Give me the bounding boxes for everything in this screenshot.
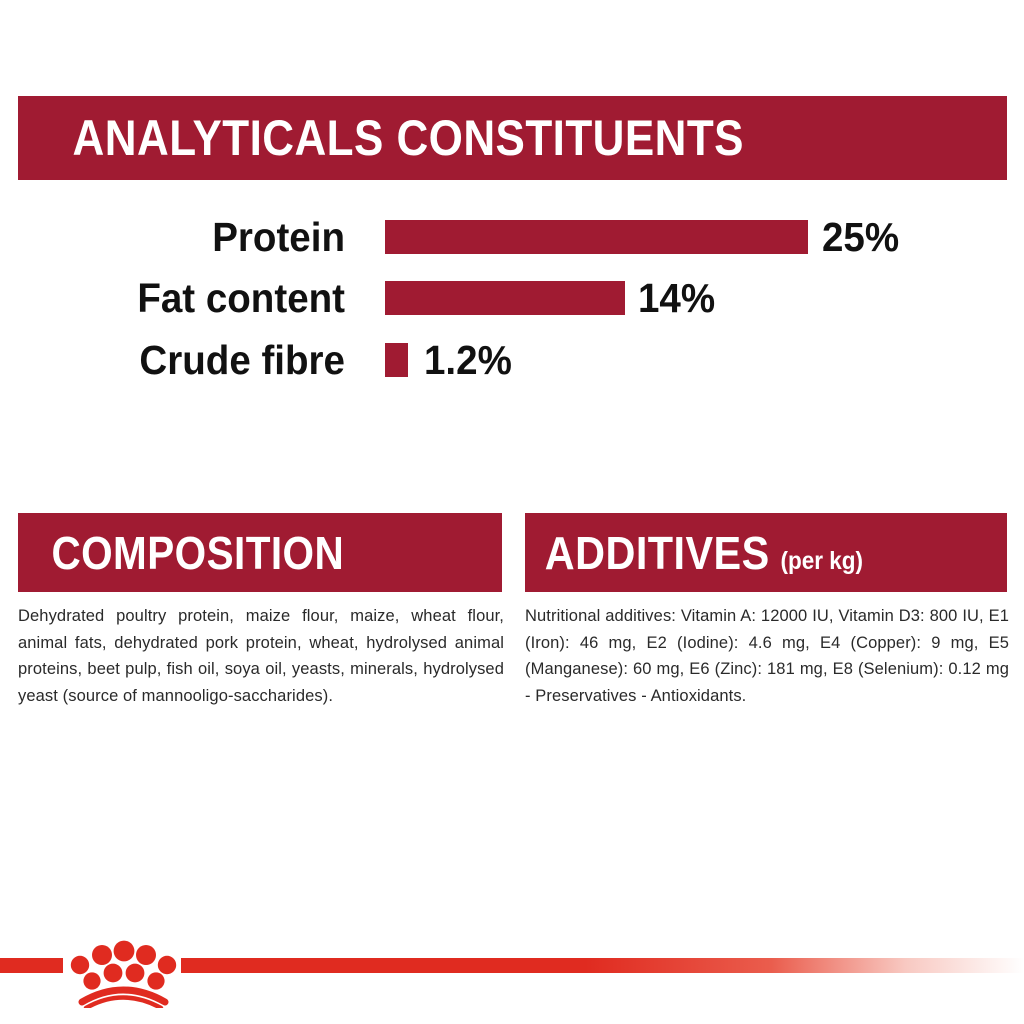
analyticals-constituents-header-bar: ANALYTICALS CONSTITUENTS: [18, 96, 1007, 180]
analyticals-constituents-title: ANALYTICALS CONSTITUENTS: [18, 113, 744, 163]
additives-title-group: ADDITIVES (per kg): [525, 530, 863, 576]
chart-value-fat-content: 14%: [638, 276, 715, 320]
footer-rule-left: [0, 958, 63, 973]
additives-body-text: Nutritional additives: Vitamin A: 12000 …: [525, 603, 1009, 709]
additives-header-bar: ADDITIVES (per kg): [525, 513, 1007, 592]
chart-row-fat-content: Fat content 14%: [0, 276, 1024, 320]
composition-title: COMPOSITION: [18, 530, 344, 576]
chart-label-fat-content: Fat content: [21, 276, 345, 320]
nutrition-label-panel: ANALYTICALS CONSTITUENTS Protein 25% Fat…: [0, 0, 1024, 1024]
composition-header-bar: COMPOSITION: [18, 513, 502, 592]
chart-value-crude-fibre: 1.2%: [424, 338, 512, 382]
chart-bar-fat-content: [385, 281, 625, 315]
brand-footer-strip: [0, 930, 1024, 1024]
chart-row-protein: Protein 25%: [0, 215, 1024, 259]
footer-rule-right: [181, 958, 1024, 973]
royal-canin-crown-logo: [66, 930, 180, 1008]
chart-label-protein: Protein: [21, 215, 345, 259]
composition-body-text: Dehydrated poultry protein, maize flour,…: [18, 603, 504, 709]
chart-bar-crude-fibre: [385, 343, 408, 377]
chart-label-crude-fibre: Crude fibre: [21, 338, 345, 382]
additives-subtitle-per-kg: (per kg): [780, 549, 863, 574]
chart-row-crude-fibre: Crude fibre 1.2%: [0, 338, 1024, 382]
chart-value-protein: 25%: [822, 215, 899, 259]
chart-bar-protein: [385, 220, 808, 254]
additives-title: ADDITIVES: [545, 530, 770, 576]
